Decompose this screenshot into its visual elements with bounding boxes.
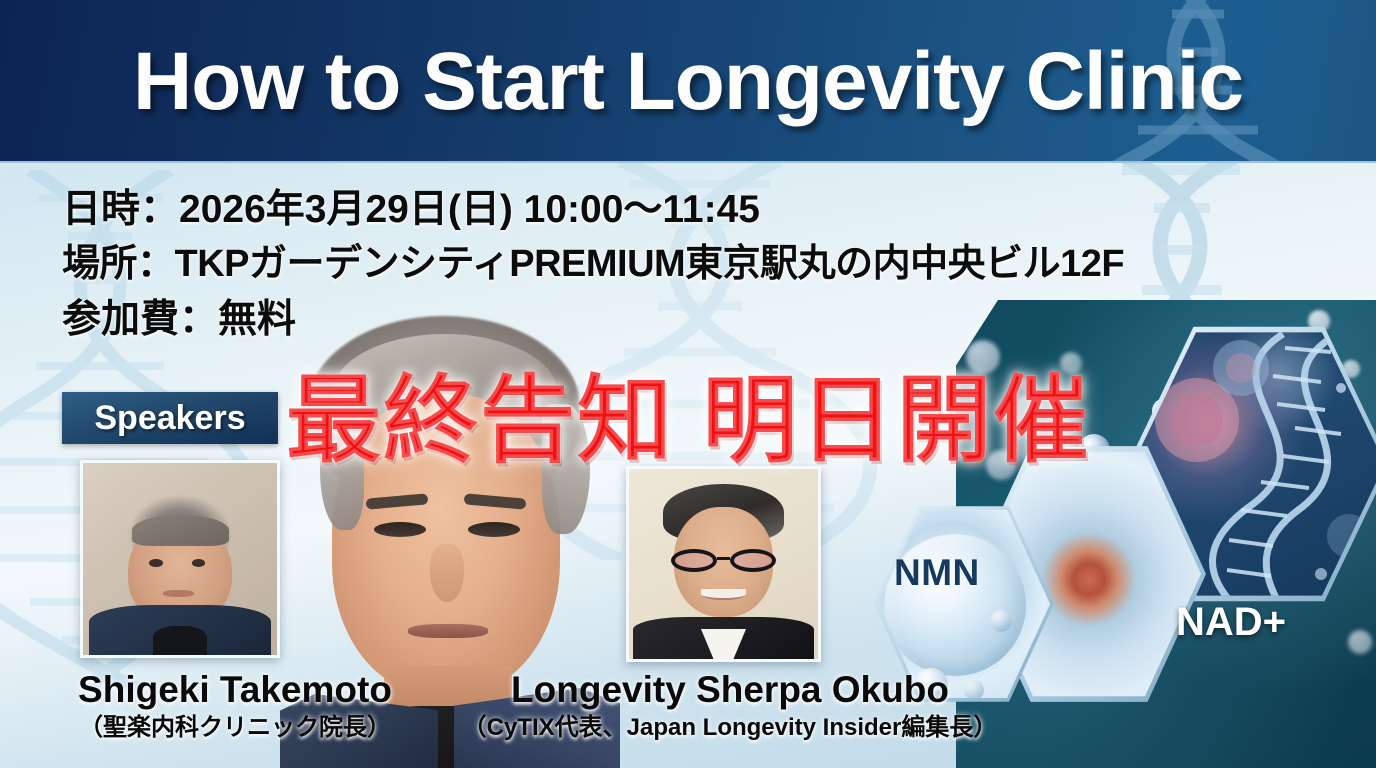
speaker-affiliation: （CyTIX代表、Japan Longevity Insider編集長） — [420, 712, 1040, 744]
page-title: How to Start Longevity Clinic — [0, 0, 1376, 163]
speakers-badge-label: Speakers — [94, 399, 245, 438]
speaker-name: Longevity Sherpa Okubo — [420, 668, 1040, 712]
speaker-caption-2: Longevity Sherpa Okubo （CyTIX代表、Japan Lo… — [420, 668, 1040, 744]
event-details: 日時：2026年3月29日(日) 10:00〜11:45 場所：TKPガーデンシ… — [62, 182, 1352, 347]
announcement-overlay: 最終告知 明日開催 — [286, 344, 1090, 481]
longevity-clinic-seminar-poster: NMN NAD+ How to Start Longev — [0, 0, 1376, 768]
nad-label: NAD+ — [1176, 600, 1286, 645]
portrait-longevity-sherpa-okubo — [626, 466, 821, 662]
event-datetime: 日時：2026年3月29日(日) 10:00〜11:45 — [62, 182, 1352, 237]
portrait-shigeki-takemoto — [80, 460, 280, 658]
nmn-label: NMN — [894, 552, 980, 594]
poster-header-band: How to Start Longevity Clinic — [0, 0, 1376, 163]
speaker-name: Shigeki Takemoto — [25, 668, 445, 712]
speakers-badge: Speakers — [62, 392, 278, 444]
speaker-affiliation: （聖楽内科クリニック院長） — [25, 712, 445, 744]
speaker-caption-1: Shigeki Takemoto （聖楽内科クリニック院長） — [25, 668, 445, 744]
event-fee: 参加費：無料 — [62, 292, 1352, 347]
event-venue: 場所：TKPガーデンシティPREMIUM東京駅丸の内中央ビル12F — [62, 237, 1352, 292]
